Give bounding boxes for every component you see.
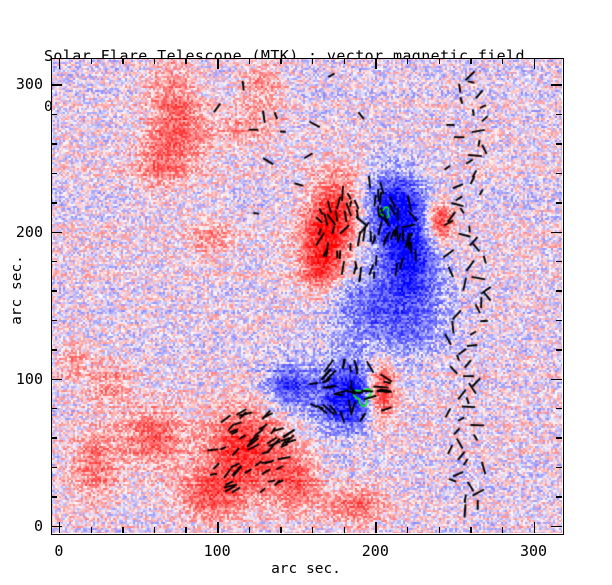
magnetogram-image-area (51, 58, 562, 533)
tick-mark (407, 527, 408, 533)
tick-mark (51, 84, 62, 85)
x-axis-title: arc sec. (0, 561, 612, 577)
tick-mark (51, 379, 62, 380)
tick-mark (51, 467, 57, 468)
tick-mark (556, 202, 562, 203)
tick-mark (51, 349, 57, 350)
x-tick-label: 200 (335, 542, 415, 560)
x-tick-label: 0 (19, 542, 99, 560)
tick-mark (51, 261, 57, 262)
tick-mark (51, 202, 57, 203)
tick-mark (280, 58, 281, 64)
tick-mark (59, 58, 60, 69)
tick-mark (51, 114, 57, 115)
tick-mark (185, 58, 186, 64)
y-tick-label: 200 (0, 223, 43, 241)
tick-mark (556, 496, 562, 497)
tick-mark (407, 58, 408, 64)
tick-mark (154, 527, 155, 533)
magnetogram-canvas (51, 58, 562, 533)
tick-mark (556, 261, 562, 262)
tick-mark (217, 58, 218, 69)
tick-mark (534, 522, 535, 533)
tick-mark (470, 58, 471, 64)
tick-mark (51, 173, 57, 174)
tick-mark (556, 437, 562, 438)
tick-mark (185, 527, 186, 533)
tick-mark (551, 526, 562, 527)
magnetogram-figure: Solar Flare Telescope (MTK) : vector mag… (0, 0, 612, 585)
tick-mark (249, 527, 250, 533)
tick-mark (249, 58, 250, 64)
tick-mark (51, 232, 62, 233)
tick-mark (556, 114, 562, 115)
tick-mark (122, 58, 123, 64)
tick-mark (375, 522, 376, 533)
tick-mark (556, 408, 562, 409)
tick-mark (502, 527, 503, 533)
tick-mark (312, 58, 313, 64)
x-tick-label: 100 (177, 542, 257, 560)
tick-mark (91, 58, 92, 64)
tick-mark (51, 143, 57, 144)
tick-mark (59, 522, 60, 533)
tick-mark (51, 496, 57, 497)
tick-mark (280, 527, 281, 533)
tick-mark (217, 522, 218, 533)
tick-mark (154, 58, 155, 64)
tick-mark (439, 527, 440, 533)
tick-mark (51, 437, 57, 438)
tick-mark (51, 408, 57, 409)
tick-mark (51, 320, 57, 321)
tick-mark (551, 84, 562, 85)
tick-mark (551, 232, 562, 233)
tick-mark (556, 467, 562, 468)
tick-mark (470, 527, 471, 533)
tick-mark (312, 527, 313, 533)
tick-mark (502, 58, 503, 64)
tick-mark (91, 527, 92, 533)
tick-mark (556, 143, 562, 144)
tick-mark (51, 290, 57, 291)
tick-mark (375, 58, 376, 69)
tick-mark (556, 349, 562, 350)
tick-mark (344, 58, 345, 64)
tick-mark (534, 58, 535, 69)
tick-mark (551, 379, 562, 380)
tick-mark (344, 527, 345, 533)
tick-mark (556, 290, 562, 291)
x-tick-label: 300 (494, 542, 574, 560)
y-tick-label: 0 (0, 517, 43, 535)
tick-mark (556, 173, 562, 174)
y-tick-label: 300 (0, 75, 43, 93)
y-axis-title: arc sec. (9, 245, 25, 335)
y-tick-label: 100 (0, 370, 43, 388)
tick-mark (439, 58, 440, 64)
tick-mark (556, 320, 562, 321)
tick-mark (51, 526, 62, 527)
tick-mark (122, 527, 123, 533)
